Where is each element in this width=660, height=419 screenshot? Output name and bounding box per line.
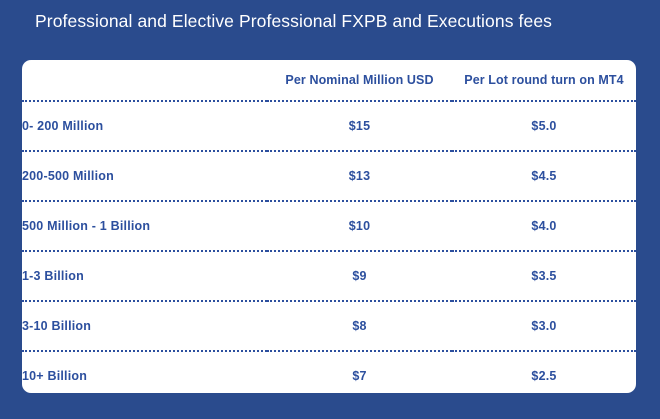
table-row: 3-10 Billion $8 $3.0 — [22, 301, 636, 351]
cell-per-nominal-million-usd: $9 — [267, 251, 452, 301]
cell-per-nominal-million-usd: $13 — [267, 151, 452, 201]
cell-per-lot-round-turn-mt4: $3.0 — [452, 301, 636, 351]
cell-per-nominal-million-usd: $10 — [267, 201, 452, 251]
table-row: 500 Million - 1 Billion $10 $4.0 — [22, 201, 636, 251]
fees-page: Professional and Elective Professional F… — [0, 0, 660, 419]
table-header: Per Nominal Million USD Per Lot round tu… — [22, 60, 636, 101]
fees-table: Per Nominal Million USD Per Lot round tu… — [22, 60, 636, 393]
cell-per-nominal-million-usd: $8 — [267, 301, 452, 351]
table-row: 200-500 Million $13 $4.5 — [22, 151, 636, 201]
cell-per-lot-round-turn-mt4: $5.0 — [452, 101, 636, 151]
table-row: 10+ Billion $7 $2.5 — [22, 351, 636, 393]
cell-tier: 200-500 Million — [22, 151, 267, 201]
cell-tier: 10+ Billion — [22, 351, 267, 393]
table-row: 1-3 Billion $9 $3.5 — [22, 251, 636, 301]
column-header-tier — [22, 60, 267, 101]
cell-tier: 0- 200 Million — [22, 101, 267, 151]
cell-tier: 1-3 Billion — [22, 251, 267, 301]
cell-per-nominal-million-usd: $7 — [267, 351, 452, 393]
cell-per-lot-round-turn-mt4: $4.0 — [452, 201, 636, 251]
cell-per-lot-round-turn-mt4: $2.5 — [452, 351, 636, 393]
cell-per-lot-round-turn-mt4: $3.5 — [452, 251, 636, 301]
cell-tier: 3-10 Billion — [22, 301, 267, 351]
table-header-row: Per Nominal Million USD Per Lot round tu… — [22, 60, 636, 101]
table-body: 0- 200 Million $15 $5.0 200-500 Million … — [22, 101, 636, 393]
column-header-per-lot-round-turn-mt4: Per Lot round turn on MT4 — [452, 60, 636, 101]
cell-tier: 500 Million - 1 Billion — [22, 201, 267, 251]
fees-card: Per Nominal Million USD Per Lot round tu… — [22, 60, 636, 393]
column-header-per-nominal-million-usd: Per Nominal Million USD — [267, 60, 452, 101]
page-title: Professional and Elective Professional F… — [35, 9, 552, 33]
cell-per-nominal-million-usd: $15 — [267, 101, 452, 151]
table-row: 0- 200 Million $15 $5.0 — [22, 101, 636, 151]
cell-per-lot-round-turn-mt4: $4.5 — [452, 151, 636, 201]
